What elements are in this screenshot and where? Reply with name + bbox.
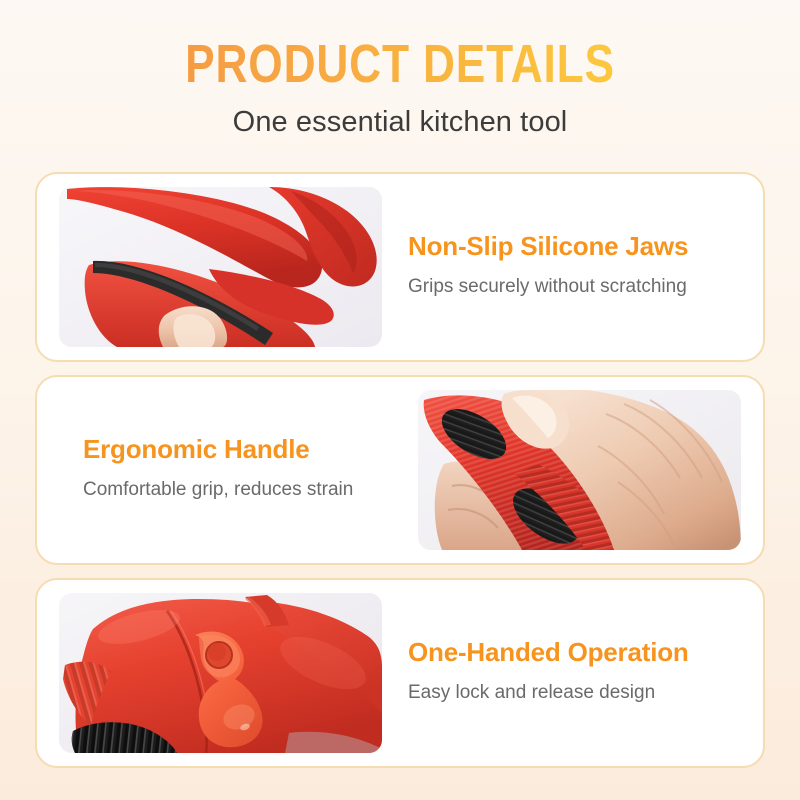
feature-card: Non-Slip Silicone Jaws Grips securely wi… <box>35 172 765 362</box>
feature-title: One-Handed Operation <box>408 638 729 668</box>
feature-card: Ergonomic Handle Comfortable grip, reduc… <box>35 375 765 565</box>
feature-text: Non-Slip Silicone Jaws Grips securely wi… <box>382 232 741 301</box>
feature-description: Easy lock and release design <box>408 679 698 708</box>
page-title: PRODUCT DETAILS <box>72 36 728 93</box>
feature-title: Ergonomic Handle <box>83 435 398 465</box>
page-header: PRODUCT DETAILS One essential kitchen to… <box>0 0 800 139</box>
one-handed-lock-photo <box>59 593 382 753</box>
silicone-jaws-photo <box>59 187 382 347</box>
feature-card-list: Non-Slip Silicone Jaws Grips securely wi… <box>35 172 765 768</box>
feature-card: One-Handed Operation Easy lock and relea… <box>35 578 765 768</box>
feature-description: Grips securely without scratching <box>408 273 698 302</box>
ergonomic-handle-photo <box>418 390 741 550</box>
feature-text: Ergonomic Handle Comfortable grip, reduc… <box>59 435 418 504</box>
page-subtitle: One essential kitchen tool <box>0 106 800 139</box>
feature-title: Non-Slip Silicone Jaws <box>408 232 729 262</box>
feature-description: Comfortable grip, reduces strain <box>83 476 373 505</box>
feature-text: One-Handed Operation Easy lock and relea… <box>382 638 741 707</box>
